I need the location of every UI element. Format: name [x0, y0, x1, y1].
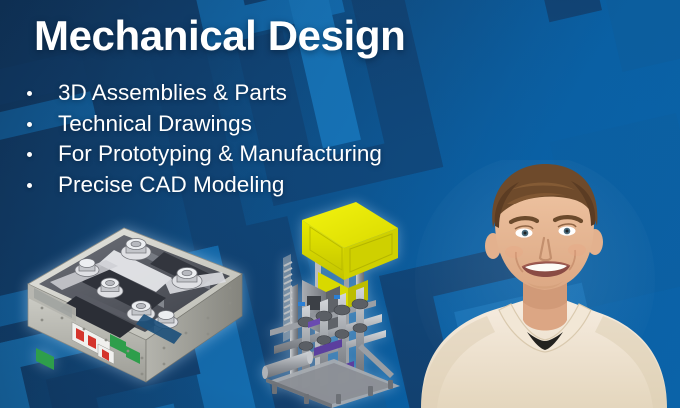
cad-pump-skid-image: [258, 196, 408, 408]
list-item: 3D Assemblies & Parts: [22, 78, 382, 109]
bullet-dot-icon: [27, 91, 32, 96]
bullet-dot-icon: [27, 122, 32, 127]
list-item-label: Precise CAD Modeling: [58, 172, 284, 197]
bullet-dot-icon: [27, 183, 32, 188]
list-item-label: 3D Assemblies & Parts: [58, 80, 287, 105]
list-item: Technical Drawings: [22, 109, 382, 140]
gig-thumbnail-card: Mechanical Design 3D Assemblies & Parts …: [0, 0, 680, 408]
seller-portrait-image: [415, 160, 680, 408]
list-item-label: For Prototyping & Manufacturing: [58, 141, 382, 166]
page-title: Mechanical Design: [34, 12, 405, 60]
bullet-dot-icon: [27, 152, 32, 157]
list-item-label: Technical Drawings: [58, 111, 252, 136]
cad-enclosure-image: [14, 222, 252, 400]
feature-list: 3D Assemblies & Parts Technical Drawings…: [22, 78, 382, 200]
list-item: For Prototyping & Manufacturing: [22, 139, 382, 170]
